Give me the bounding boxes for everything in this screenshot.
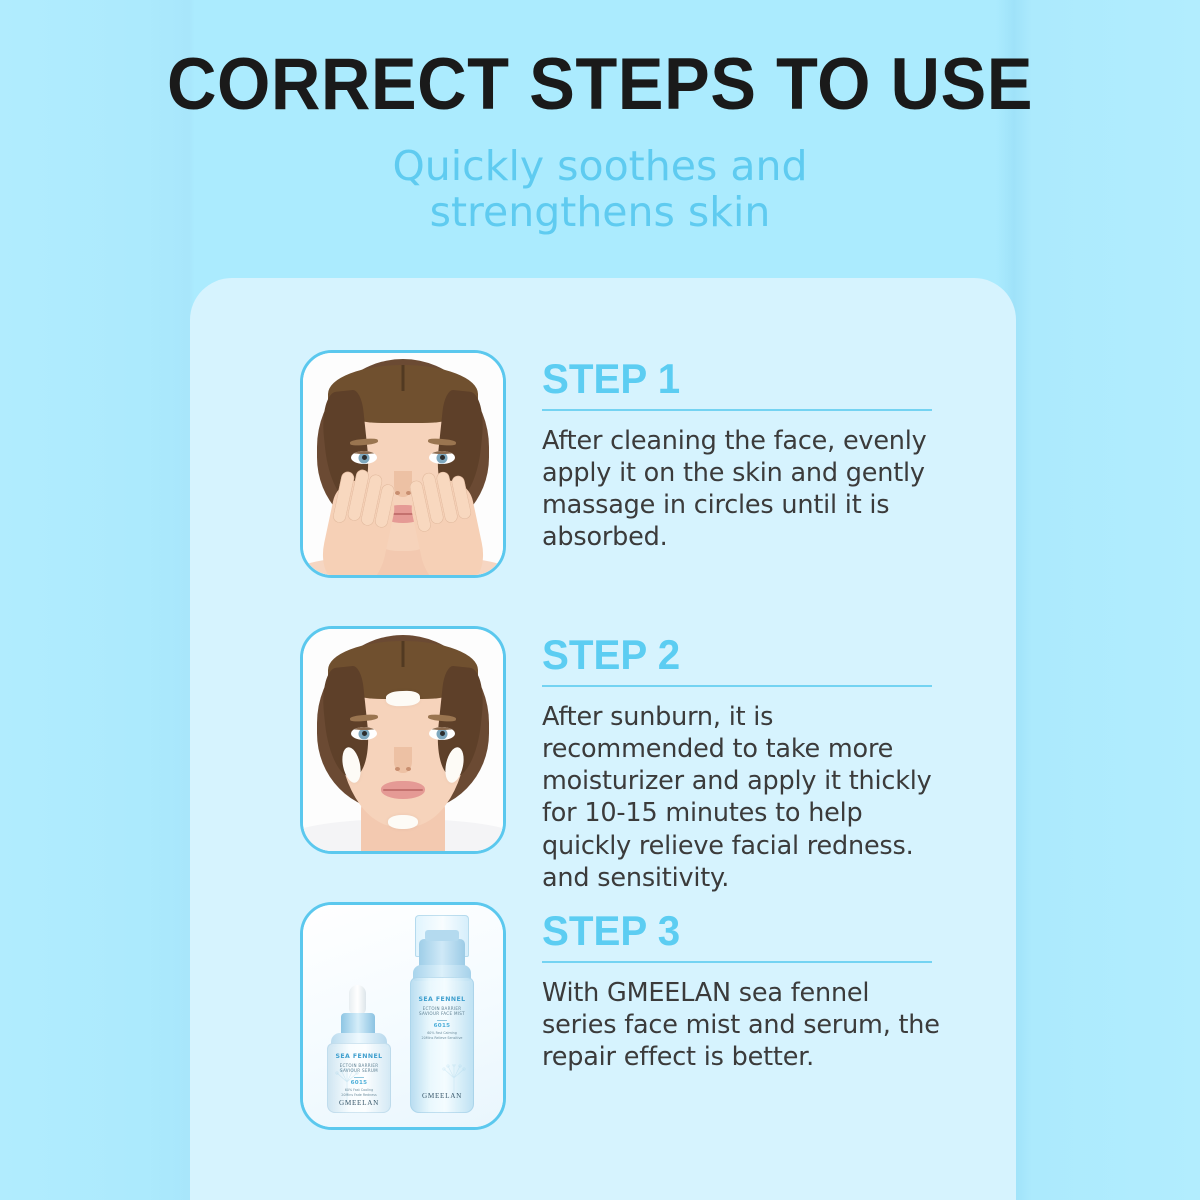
step-1-body: After cleaning the face, evenly apply it…: [542, 425, 942, 554]
photo-massage-face: [303, 353, 503, 575]
serum-brand-line: SEA FENNEL: [328, 1053, 390, 1060]
page-title: CORRECT STEPS TO USE: [36, 48, 1164, 121]
mist-brand-line: SEA FENNEL: [411, 996, 473, 1003]
subtitle-line-1: Quickly soothes and: [0, 143, 1200, 189]
mist-sub-line-2: SAVIOUR FACE MIST: [411, 1011, 473, 1017]
mist-fine-line-2: 20Mins Relieve Sensitive: [411, 1036, 473, 1041]
mist-label: SEA FENNEL ECTOIN BARRIER SAVIOUR FACE M…: [411, 996, 473, 1041]
photo-cream-dabs-face: [303, 629, 503, 851]
dropper-bulb-icon: [349, 985, 366, 1015]
step-2-text: STEP 2 After sunburn, it is recommended …: [506, 626, 1000, 894]
mist-logo: GMEELAN: [411, 1092, 473, 1100]
serum-code: 6015: [328, 1080, 390, 1086]
serum-sub-line-2: SAVIOUR SERUM: [328, 1068, 390, 1074]
header: CORRECT STEPS TO USE Quickly soothes and…: [0, 0, 1200, 236]
cream-dab-chin: [388, 815, 418, 829]
subtitle-line-2: strengthens skin: [0, 189, 1200, 235]
step-2-body: After sunburn, it is recommended to take…: [542, 701, 942, 894]
serum-bottle: SEA FENNEL ECTOIN BARRIER SAVIOUR SERUM …: [325, 985, 395, 1113]
mist-code: 6015: [411, 1023, 473, 1029]
step-2-divider: [542, 685, 932, 687]
step-item-3: SEA FENNEL ECTOIN BARRIER SAVIOUR FACE M…: [300, 902, 1000, 1130]
step-3-body: With GMEELAN sea fennel series face mist…: [542, 977, 942, 1073]
step-1-text: STEP 1 After cleaning the face, evenly a…: [506, 350, 1000, 554]
step-1-photo: [300, 350, 506, 578]
serum-label: SEA FENNEL ECTOIN BARRIER SAVIOUR SERUM …: [328, 1053, 390, 1098]
step-item-1: STEP 1 After cleaning the face, evenly a…: [300, 350, 1000, 578]
step-2-photo: [300, 626, 506, 854]
step-1-heading: STEP 1: [542, 358, 982, 400]
cream-dab-forehead: [386, 690, 421, 706]
step-1-divider: [542, 409, 932, 411]
step-3-divider: [542, 961, 932, 963]
step-item-2: STEP 2 After sunburn, it is recommended …: [300, 626, 1000, 894]
photo-product-bottles: SEA FENNEL ECTOIN BARRIER SAVIOUR FACE M…: [303, 905, 503, 1127]
step-3-text: STEP 3 With GMEELAN sea fennel series fa…: [506, 902, 1000, 1073]
step-2-heading: STEP 2: [542, 634, 982, 676]
steps-card: STEP 1 After cleaning the face, evenly a…: [190, 278, 1016, 1200]
serum-fine-line-2: 20Mins Fade Redness: [328, 1093, 390, 1098]
step-3-heading: STEP 3: [542, 910, 982, 952]
face-mist-bottle: SEA FENNEL ECTOIN BARRIER SAVIOUR FACE M…: [407, 915, 477, 1113]
step-3-photo: SEA FENNEL ECTOIN BARRIER SAVIOUR FACE M…: [300, 902, 506, 1130]
serum-logo: GMEELAN: [328, 1099, 390, 1107]
page-subtitle: Quickly soothes and strengthens skin: [0, 143, 1200, 236]
